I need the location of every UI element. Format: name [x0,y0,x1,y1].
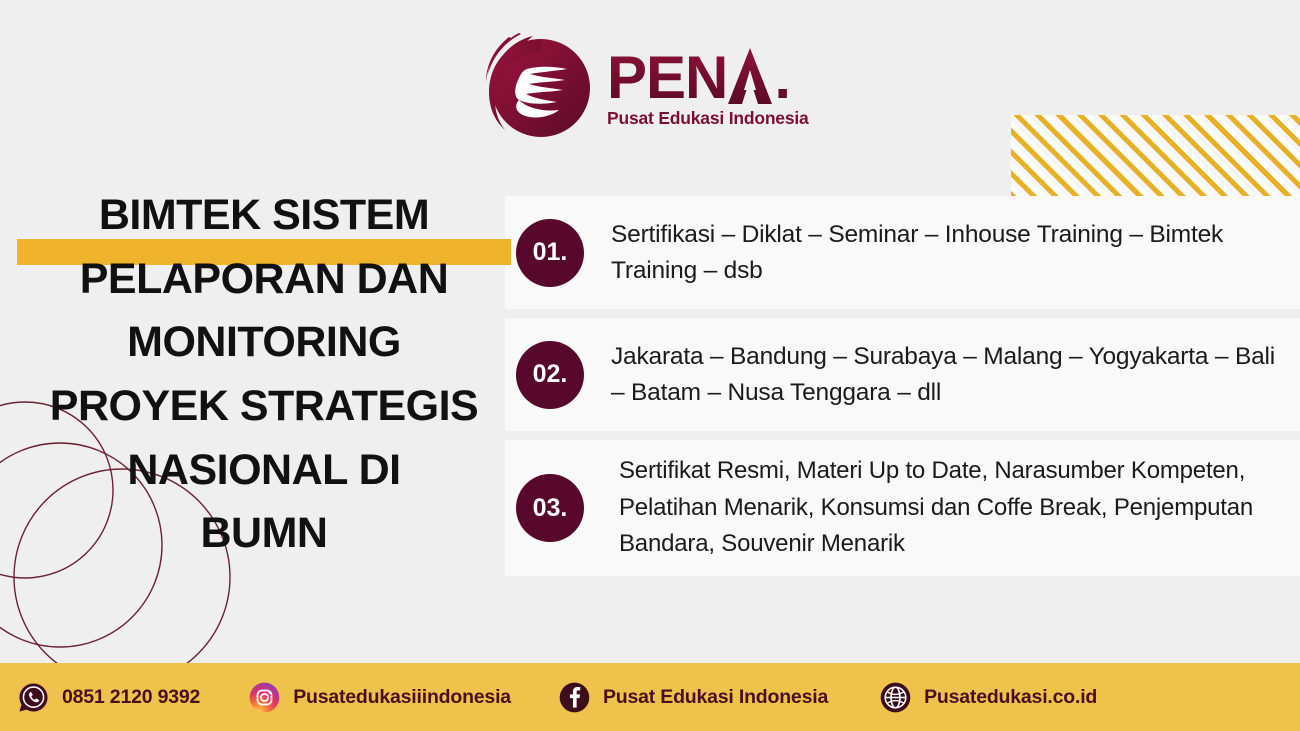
title-line-4: PROYEK STRATEGIS [24,375,504,439]
title-line-1: BIMTEK SISTEM [24,184,504,248]
contact-whatsapp-label: 0851 2120 9392 [62,686,200,709]
contact-footer-bar: 0851 2120 9392 Pusatedukasiiindonesia Pu [0,663,1300,731]
info-card: 03. Sertifikat Resmi, Materi Up to Date,… [505,440,1300,576]
instagram-icon [249,682,280,713]
contact-facebook[interactable]: Pusat Edukasi Indonesia [559,682,828,713]
title-line-6: BUMN [24,502,504,566]
title-line-5: NASIONAL DI [24,439,504,503]
contact-website[interactable]: Pusatedukasi.co.id [880,682,1097,713]
page-title: BIMTEK SISTEM PELAPORAN DAN MONITORING P… [24,184,504,566]
pena-wordmark: PEN . [607,46,809,106]
pena-tagline: Pusat Edukasi Indonesia [607,108,809,129]
pena-logo: PEN . Pusat Edukasi Indonesia [475,22,840,150]
pena-logo-mark [475,22,603,150]
contact-facebook-label: Pusat Edukasi Indonesia [603,686,828,709]
pena-wordmark-a-icon [727,46,773,106]
card-number-badge: 03. [516,474,584,542]
info-card: 01. Sertifikasi – Diklat – Seminar – Inh… [505,196,1300,309]
card-number-badge: 01. [516,219,584,287]
title-line-3: MONITORING [24,311,504,375]
info-card: 02. Jakarata – Bandung – Surabaya – Mala… [505,318,1300,431]
card-text: Jakarata – Bandung – Surabaya – Malang –… [505,339,1300,411]
facebook-icon [559,682,590,713]
globe-icon [880,682,911,713]
whatsapp-icon [18,682,49,713]
pena-wordmark-group: PEN . Pusat Edukasi Indonesia [607,44,809,129]
contact-instagram[interactable]: Pusatedukasiiindonesia [249,682,511,713]
contact-instagram-label: Pusatedukasiiindonesia [293,686,511,709]
card-text: Sertifikasi – Diklat – Seminar – Inhouse… [505,217,1300,289]
info-card-list: 01. Sertifikasi – Diklat – Seminar – Inh… [505,196,1300,585]
title-line-2: PELAPORAN DAN [24,248,504,312]
card-text: Sertifikat Resmi, Materi Up to Date, Nar… [505,453,1300,562]
contact-website-label: Pusatedukasi.co.id [924,686,1097,709]
pena-wordmark-pen: PEN [607,50,727,105]
card-number-badge: 02. [516,341,584,409]
contact-whatsapp[interactable]: 0851 2120 9392 [18,682,200,713]
pena-wordmark-dot: . [774,50,790,105]
